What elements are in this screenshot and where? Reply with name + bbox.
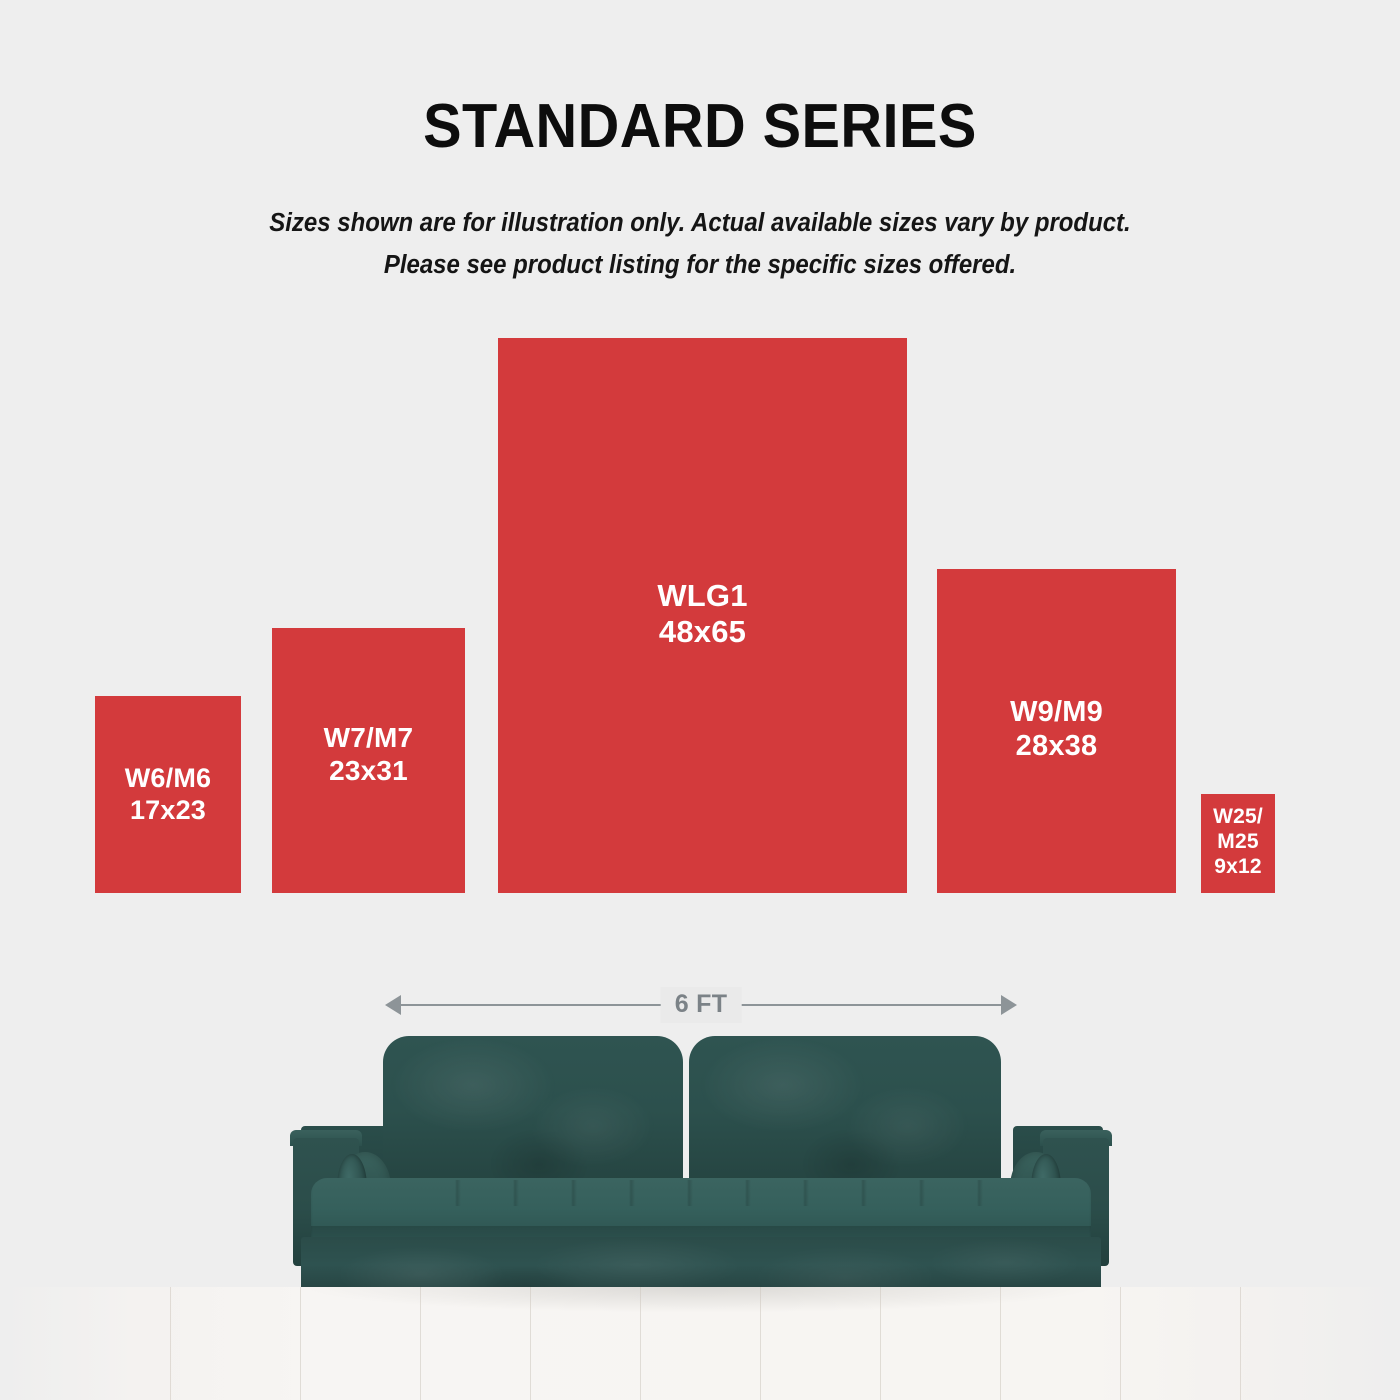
arrow-left-icon bbox=[385, 995, 401, 1015]
frame-label-w7-m7: W7/M7 23x31 bbox=[324, 722, 414, 788]
frame-swatch-w25-m25[interactable]: W25/ M25 9x12 bbox=[1201, 794, 1275, 893]
frame-swatch-w7-m7[interactable]: W7/M7 23x31 bbox=[272, 628, 465, 893]
sofa-back-cushion-left-texture bbox=[383, 1036, 683, 1200]
floor-plank-line bbox=[1240, 1287, 1241, 1400]
page-subtitle: Sizes shown are for illustration only. A… bbox=[42, 202, 1358, 286]
subtitle-line-1: Sizes shown are for illustration only. A… bbox=[269, 209, 1130, 237]
floor-plank-line bbox=[420, 1287, 421, 1400]
floor-plank-line bbox=[1000, 1287, 1001, 1400]
floor-plank-line bbox=[530, 1287, 531, 1400]
subtitle-line-2: Please see product listing for the speci… bbox=[42, 244, 1358, 286]
frame-label-wlg1: WLG1 48x65 bbox=[657, 578, 747, 651]
arrow-right-icon bbox=[1001, 995, 1017, 1015]
dimension-label: 6 FT bbox=[661, 987, 742, 1023]
floor bbox=[0, 1287, 1400, 1400]
floor-plank-line bbox=[760, 1287, 761, 1400]
frame-swatch-w9-m9[interactable]: W9/M9 28x38 bbox=[937, 569, 1176, 893]
frame-label-w6-m6: W6/M6 17x23 bbox=[125, 763, 212, 826]
floor-plank-line bbox=[300, 1287, 301, 1400]
floor-plank-line bbox=[880, 1287, 881, 1400]
page-title: STANDARD SERIES bbox=[49, 92, 1351, 162]
frame-label-w25-m25: W25/ M25 9x12 bbox=[1213, 804, 1263, 880]
sofa-seat-tufting bbox=[403, 1180, 1003, 1206]
frame-swatch-wlg1[interactable]: WLG1 48x65 bbox=[498, 338, 907, 893]
floor-plank-line bbox=[170, 1287, 171, 1400]
sofa-back-cushion-right-texture bbox=[689, 1036, 1001, 1200]
frame-swatch-w6-m6[interactable]: W6/M6 17x23 bbox=[95, 696, 241, 893]
floor-plank-line bbox=[640, 1287, 641, 1400]
frame-label-w9-m9: W9/M9 28x38 bbox=[1010, 696, 1103, 764]
illustration-canvas: STANDARD SERIES Sizes shown are for illu… bbox=[0, 0, 1400, 1400]
dimension-indicator: 6 FT bbox=[385, 988, 1017, 1024]
floor-plank-line bbox=[1120, 1287, 1121, 1400]
